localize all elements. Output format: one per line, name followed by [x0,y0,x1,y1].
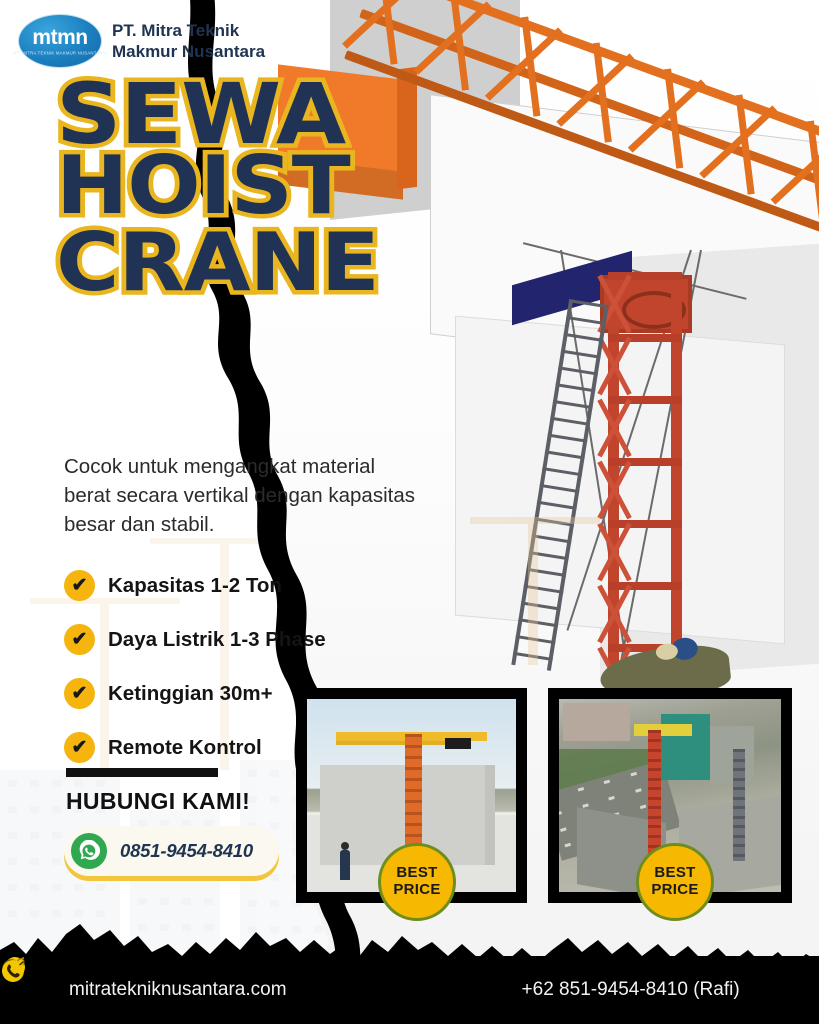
whatsapp-icon [68,830,110,872]
feature-list: ✔Kapasitas 1-2 Ton✔Daya Listrik 1-3 Phas… [64,570,326,786]
feature-item: ✔Ketinggian 30m+ [64,678,326,709]
phone-icon [483,976,511,1004]
feature-label: Kapasitas 1-2 Ton [108,574,282,598]
check-icon: ✔ [64,678,95,709]
feature-label: Ketinggian 30m+ [108,682,273,706]
www-globe-icon: WWW [30,976,58,1004]
footer: WWW mitratekniknusantara.com +62 851-945… [0,894,819,1024]
company-name: PT. Mitra Teknik Makmur Nusantara [112,20,265,63]
red-lattice-mast [608,272,682,672]
brand-header: mtmn PT. MITRA TEKNIK MAKMUR NUSANTARA P… [18,14,265,68]
badge-line-1: BEST [396,865,437,882]
whatsapp-contact-pill[interactable]: 0851-9454-8410 [64,826,279,876]
headline-line-2: HOIST [56,152,379,221]
subtitle-text: Cocok untuk mengangkat material berat se… [64,452,424,539]
check-icon: ✔ [64,570,95,601]
company-name-line2: Makmur Nusantara [112,41,265,62]
cta-heading: HUBUNGI KAMI! [66,788,250,815]
footer-website-text: mitratekniknusantara.com [69,979,287,1001]
badge-line-1: BEST [654,865,695,882]
check-icon: ✔ [64,732,95,763]
page-title: SEWA HOIST CRANE [56,78,355,300]
feature-item: ✔Remote Kontrol [64,732,326,763]
poster-root: mtmn PT. MITRA TEKNIK MAKMUR NUSANTARA P… [0,0,819,1024]
footer-website[interactable]: WWW mitratekniknusantara.com [30,976,287,1004]
whatsapp-phone-number: 0851-9454-8410 [120,840,253,862]
check-icon: ✔ [64,624,95,655]
footer-phone[interactable]: +62 851-9454-8410 (Rafi) [483,976,740,1004]
headline-line-3: CRANE [56,229,379,298]
logo-tagline: PT. MITRA TEKNIK MAKMUR NUSANTARA [14,51,106,56]
feature-label: Remote Kontrol [108,736,262,760]
logo-wordmark: mtmn [32,27,87,48]
feature-item: ✔Kapasitas 1-2 Ton [64,570,326,601]
feature-label: Daya Listrik 1-3 Phase [108,628,326,652]
cta-divider-rule [66,768,218,777]
footer-phone-text: +62 851-9454-8410 (Rafi) [522,979,740,1001]
footer-contact-bar: WWW mitratekniknusantara.com +62 851-945… [0,956,819,1024]
feature-item: ✔Daya Listrik 1-3 Phase [64,624,326,655]
distant-tower-crane [470,505,600,665]
mtmn-logo: mtmn PT. MITRA TEKNIK MAKMUR NUSANTARA [18,14,102,68]
company-name-line1: PT. Mitra Teknik [112,20,265,41]
